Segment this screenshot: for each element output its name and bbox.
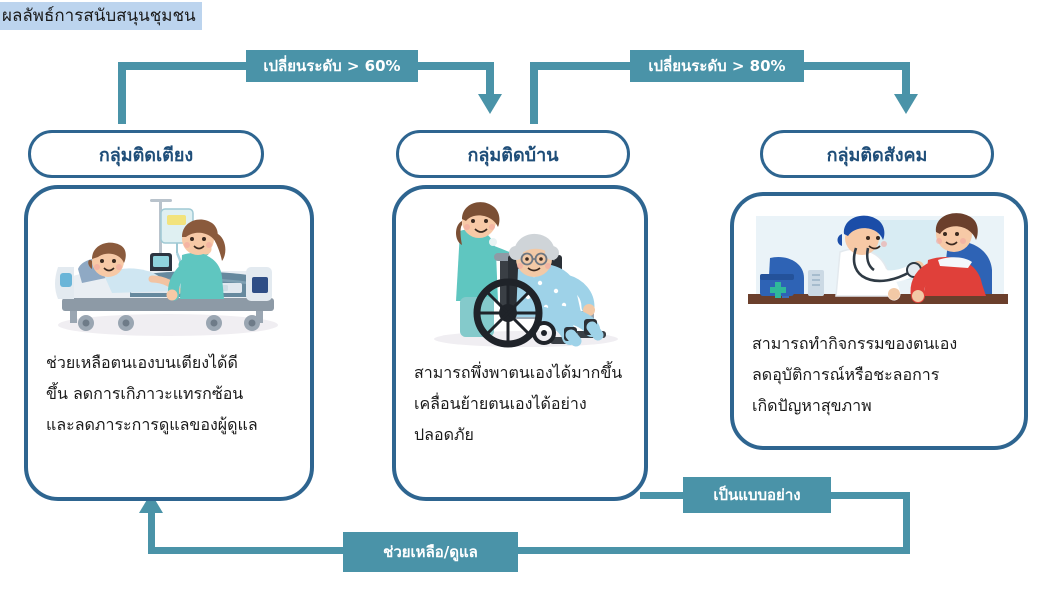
feedback-chip-role-model[interactable]: เป็นแบบอย่าง [683, 477, 831, 513]
connector-80-vertical-left [530, 62, 538, 124]
outcome-line: ขึ้น ลดการเกิภาวะแทรกซ้อน [46, 378, 298, 409]
flowchart-canvas: ผลลัพธ์การสนับสนุนชุมชน เปลี่ยนระดับ > 6… [0, 0, 1058, 593]
outcome-line: และลดภาระการดูแลของผู้ดูแล [46, 409, 298, 440]
doctor-examining-patient-stethoscope-illustration [742, 204, 1016, 322]
outcome-line: สามารถพึ่งพาตนเองได้มากขึ้น [414, 357, 632, 388]
outcome-text-socially-active: สามารถทำกิจกรรมของตนเอง ลดอุบัติการณ์หรื… [752, 328, 1012, 421]
outcome-card-homebound[interactable]: สามารถพึ่งพาตนเองได้มากขึ้น เคลื่อนย้ายต… [392, 185, 648, 501]
caregiver-pushing-elderly-wheelchair-illustration [408, 197, 632, 349]
group-heading-socially-active[interactable]: กลุ่มติดสังคม [760, 130, 994, 178]
group-heading-homebound[interactable]: กลุ่มติดบ้าน [396, 130, 630, 178]
feedback-chip-help-care[interactable]: ช่วยเหลือ/ดูแล [343, 532, 518, 572]
connector-60-vertical-right [486, 62, 494, 95]
transition-chip-80[interactable]: เปลี่ยนระดับ > 80% [630, 50, 804, 82]
connector-role-model-vertical [903, 492, 910, 554]
outcome-card-socially-active[interactable]: สามารถทำกิจกรรมของตนเอง ลดอุบัติการณ์หรื… [730, 192, 1028, 450]
connector-60-vertical-left [118, 62, 126, 124]
connector-help-care-vertical [148, 512, 155, 550]
page-title: ผลลัพธ์การสนับสนุนชุมชน [0, 2, 202, 30]
connector-80-arrowhead [894, 94, 918, 114]
outcome-line: ลดอุบัติการณ์หรือชะลอการ [752, 359, 1012, 390]
transition-chip-60[interactable]: เปลี่ยนระดับ > 60% [246, 50, 418, 82]
connector-help-care-horizontal [148, 547, 910, 554]
connector-60-horizontal-right [414, 62, 494, 70]
connector-80-horizontal-left [530, 62, 634, 70]
outcome-line: ช่วยเหลือตนเองบนเตียงได้ดี [46, 347, 298, 378]
hospital-bed-patient-nurse-iv-illustration [34, 195, 302, 340]
outcome-text-bedbound: ช่วยเหลือตนเองบนเตียงได้ดี ขึ้น ลดการเกิ… [46, 347, 298, 440]
connector-60-arrowhead [478, 94, 502, 114]
connector-80-horizontal-right [800, 62, 910, 70]
outcome-line: สามารถทำกิจกรรมของตนเอง [752, 328, 1012, 359]
outcome-line: ปลอดภัย [414, 419, 632, 450]
connector-60-horizontal-left [118, 62, 248, 70]
group-heading-bedbound[interactable]: กลุ่มติดเตียง [28, 130, 264, 178]
outcome-line: เคลื่อนย้ายตนเองได้อย่าง [414, 388, 632, 419]
outcome-card-bedbound[interactable]: ช่วยเหลือตนเองบนเตียงได้ดี ขึ้น ลดการเกิ… [24, 185, 314, 501]
connector-80-vertical-right [902, 62, 910, 95]
outcome-text-homebound: สามารถพึ่งพาตนเองได้มากขึ้น เคลื่อนย้ายต… [414, 357, 632, 450]
outcome-line: เกิดปัญหาสุขภาพ [752, 390, 1012, 421]
